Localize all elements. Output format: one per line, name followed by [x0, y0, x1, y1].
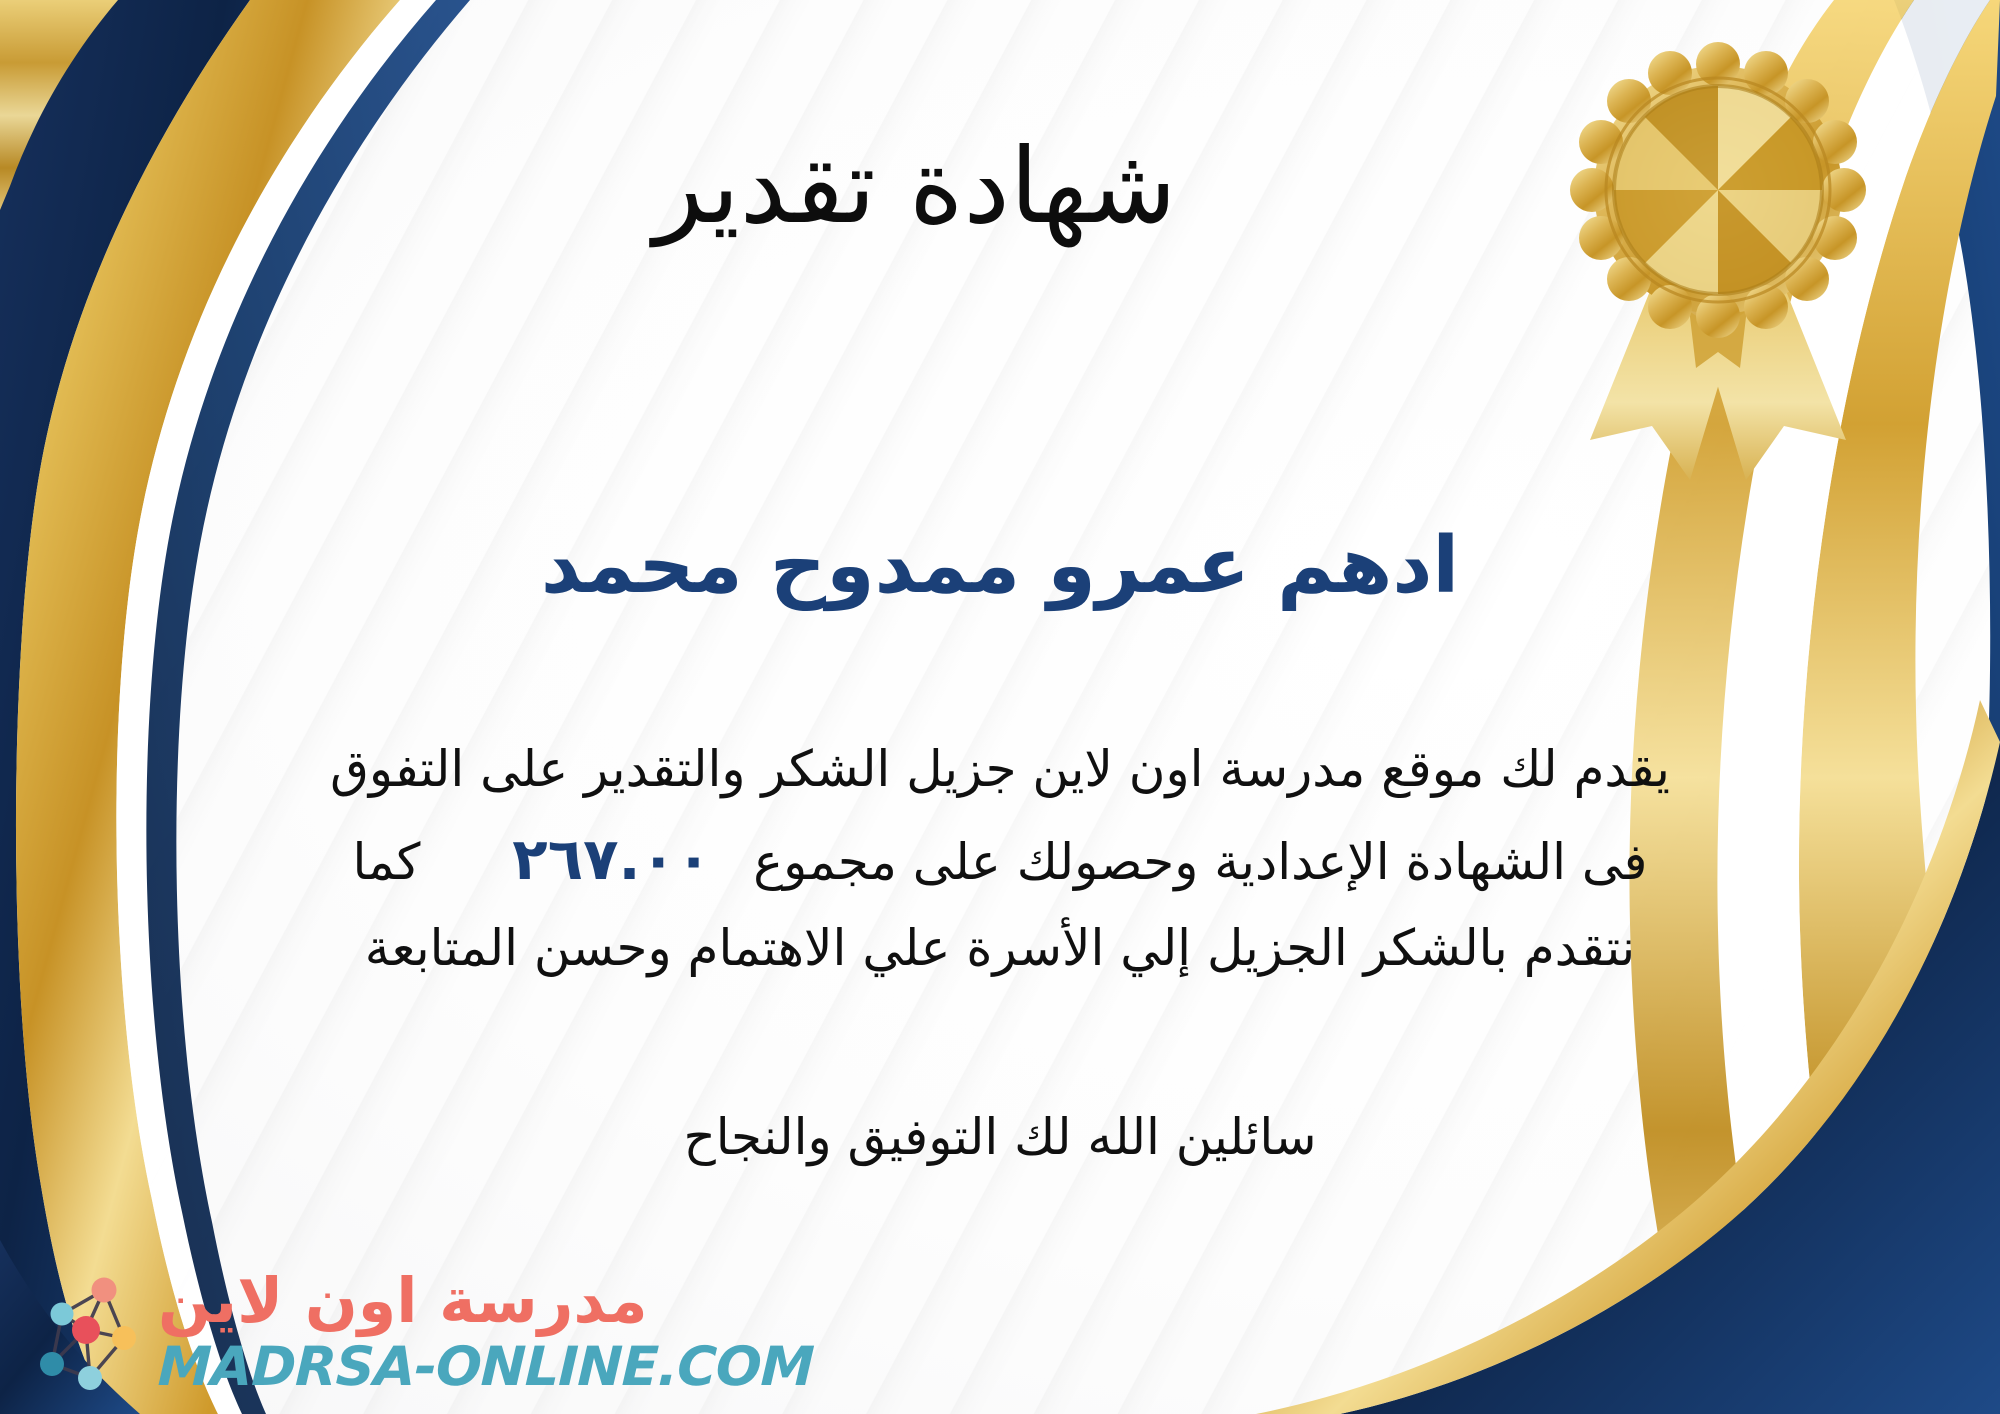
body-line-1: يقدم لك موقع مدرسة اون لاين جزيل الشكر و… [60, 728, 1940, 811]
node-lightteal-bottom [78, 1366, 102, 1390]
network-nodes-icon [26, 1268, 144, 1396]
certificate-title: شهادة تقدير [0, 128, 2000, 244]
node-red-center [72, 1316, 100, 1344]
closing-line: سائلين الله لك التوفيق والنجاح [0, 1100, 2000, 1175]
body-line-3: نتقدم بالشكر الجزيل إلي الأسرة علي الاهت… [60, 907, 1940, 990]
recipient-name: ادهم عمرو ممدوح محمد [0, 520, 2000, 614]
node-blue-lower-left [40, 1352, 64, 1376]
body-line-2-suffix: كما [353, 833, 421, 891]
body-line-2-prefix: فى الشهادة الإعدادية وحصولك على مجموع [753, 833, 1647, 891]
logo-wordmark: مدرسة اون لاين MADRSA-ONLINE.COM [158, 1270, 814, 1394]
logo-arabic-text: مدرسة اون لاين [158, 1270, 648, 1332]
node-teal-upper-left [51, 1303, 74, 1326]
certificate-canvas: شهادة تقدير ادهم عمرو ممدوح محمد يقدم لك… [0, 0, 2000, 1414]
certificate-body: يقدم لك موقع مدرسة اون لاين جزيل الشكر و… [60, 728, 1940, 990]
body-line-2: فى الشهادة الإعدادية وحصولك على مجموع ٢٦… [60, 811, 1940, 907]
logo-domain-text: MADRSA-ONLINE.COM [157, 1340, 814, 1394]
grade-total-value: ٢٦٧.٠٠ [486, 811, 737, 907]
node-yellow-right [112, 1326, 136, 1350]
site-logo[interactable]: مدرسة اون لاين MADRSA-ONLINE.COM [26, 1268, 814, 1396]
node-coral-top [92, 1278, 117, 1303]
certificate-content: شهادة تقدير ادهم عمرو ممدوح محمد يقدم لك… [0, 0, 2000, 1414]
